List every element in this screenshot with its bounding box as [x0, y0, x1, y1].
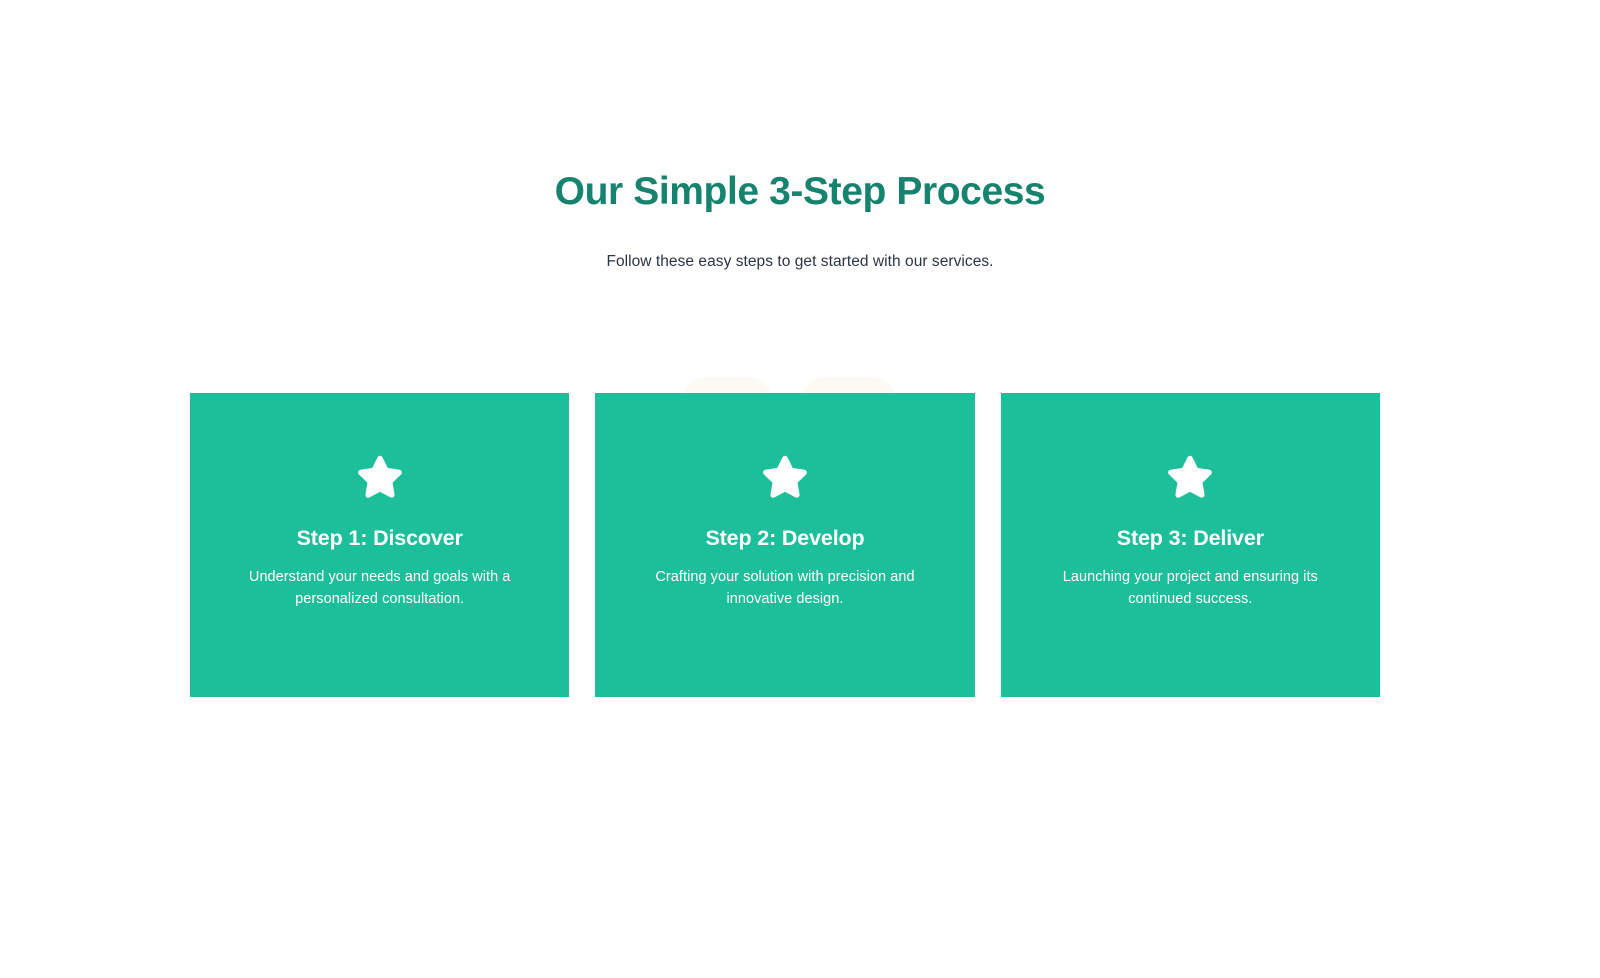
step-card-description: Crafting your solution with precision an… [640, 552, 930, 610]
section-heading-block: Our Simple 3-Step Process Follow these e… [0, 166, 1600, 273]
steps-card-row: Step 1: Discover Understand your needs a… [190, 393, 1380, 697]
step-card-2[interactable]: Step 2: Develop Crafting your solution w… [595, 393, 974, 697]
step-card-description: Understand your needs and goals with a p… [235, 552, 525, 610]
section-subtitle: Follow these easy steps to get started w… [0, 218, 1600, 273]
step-card-title: Step 2: Develop [705, 524, 864, 552]
step-card-1[interactable]: Step 1: Discover Understand your needs a… [190, 393, 569, 697]
step-card-description: Launching your project and ensuring its … [1045, 552, 1335, 610]
step-card-title: Step 3: Deliver [1117, 524, 1264, 552]
star-icon [356, 451, 404, 499]
page-title: Our Simple 3-Step Process [0, 166, 1600, 218]
process-section-page: Our Simple 3-Step Process Follow these e… [0, 0, 1600, 978]
step-card-3[interactable]: Step 3: Deliver Launching your project a… [1001, 393, 1380, 697]
star-icon [761, 451, 809, 499]
star-icon [1166, 451, 1214, 499]
step-card-title: Step 1: Discover [297, 524, 463, 552]
